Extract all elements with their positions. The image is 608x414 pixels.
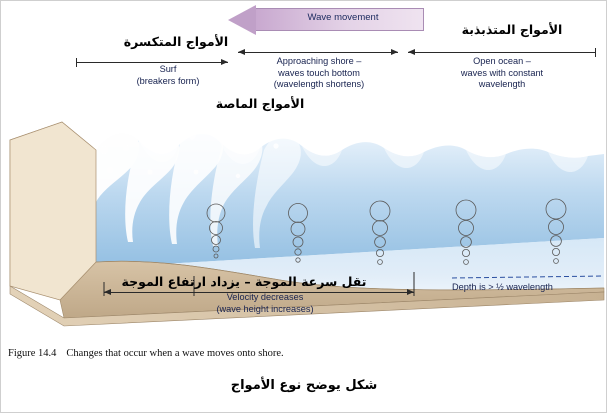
caption-approach-line-3: (wavelength shortens)	[244, 79, 394, 91]
arrow-right-icon	[407, 289, 414, 295]
depth-note: Depth is > ½ wavelength	[452, 282, 602, 292]
caption-open-line-3: wavelength	[432, 79, 572, 91]
measure-line	[408, 52, 596, 53]
caption-surf: Surf (breakers form)	[108, 64, 228, 87]
arrow-left-icon	[104, 289, 111, 295]
arabic-label-velocity: تقل سرعة الموجة – يزداد ارتفاع الموجة	[104, 274, 384, 289]
measure-line	[76, 62, 228, 63]
arabic-label-surf: الأمواج المتكسرة	[96, 34, 256, 49]
caption-approach-line-1: Approaching shore –	[244, 56, 394, 68]
caption-velocity-line-1: Velocity decreases	[180, 292, 350, 304]
caption-surf-line-1: Surf	[108, 64, 228, 76]
caption-surf-line-2: (breakers form)	[108, 76, 228, 88]
caption-open-line-1: Open ocean –	[432, 56, 572, 68]
arrow-right-icon	[391, 49, 398, 55]
figure-caption: Figure 14.4Changes that occur when a wav…	[8, 348, 568, 359]
arrow-left-icon	[228, 5, 256, 35]
caption-open-ocean: Open ocean – waves with constant wavelen…	[432, 56, 572, 91]
caption-approaching-shore: Approaching shore – waves touch bottom (…	[244, 56, 394, 91]
arrow-left-icon	[408, 49, 415, 55]
figure-page: Wave movement الأمواج المتكسرة الأمواج ا…	[0, 0, 608, 414]
measure-tick-right	[595, 48, 596, 57]
caption-velocity-line-2: (wave height increases)	[180, 304, 350, 316]
figure-number: Figure 14.4	[8, 348, 56, 359]
arrow-left-icon	[238, 49, 245, 55]
measure-tick-left	[76, 58, 77, 67]
caption-approach-line-2: waves touch bottom	[244, 68, 394, 80]
wave-diagram: Wave movement الأمواج المتكسرة الأمواج ا…	[0, 0, 608, 340]
arabic-label-open-ocean: الأمواج المتذبذبة	[432, 22, 592, 37]
arabic-label-approaching-shore: الأمواج الماصة	[180, 96, 340, 111]
caption-velocity: Velocity decreases (wave height increase…	[180, 292, 350, 315]
figure-caption-text: Changes that occur when a wave moves ont…	[66, 348, 283, 359]
measure-line	[238, 52, 398, 53]
bottom-title: شكل يوضح نوع الأمواج	[0, 378, 608, 393]
wave-movement-banner: Wave movement	[228, 8, 424, 32]
wave-movement-label: Wave movement	[268, 12, 418, 23]
caption-open-line-2: waves with constant	[432, 68, 572, 80]
